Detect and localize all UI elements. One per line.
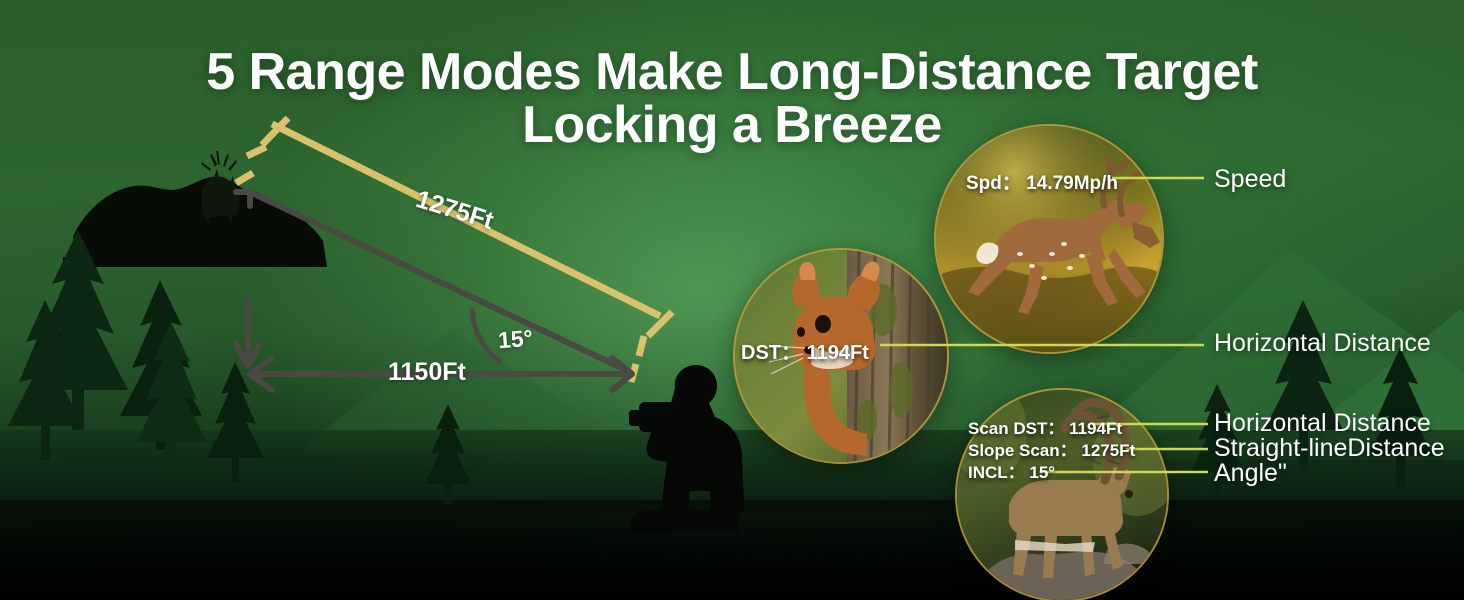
overlay-slope-scan: Slope Scan： 1275Ft [968, 440, 1135, 462]
overlay-scan-dst: Scan DST： 1194Ft [968, 418, 1135, 440]
overlay-scan-values: Scan DST： 1194Ft Slope Scan： 1275Ft INCL… [968, 418, 1135, 484]
label-speed: Speed [1214, 165, 1286, 194]
page-title: 5 Range Modes Make Long-Distance Target … [0, 46, 1464, 152]
overlay-distance-value: DST： 1194Ft [741, 336, 869, 365]
label-straight-line-distance: Straight-lineDistance [1214, 436, 1445, 461]
overlay-incl: INCL： 15° [968, 462, 1135, 484]
label-angle: Angle" [1214, 461, 1445, 486]
overlay-speed-value: Spd： 14.79Mp/h [966, 168, 1118, 195]
title-line-1: 5 Range Modes Make Long-Distance Target [206, 43, 1258, 101]
label-group-scan: Horizontal Distance Straight-lineDistanc… [1214, 411, 1445, 486]
title-line-2: Locking a Breeze [0, 99, 1464, 152]
label-horizontal-distance: Horizontal Distance [1214, 329, 1431, 358]
promo-banner: 1275Ft 1150Ft 15° [0, 0, 1464, 600]
label-horizontal-distance-2: Horizontal Distance [1214, 411, 1445, 436]
